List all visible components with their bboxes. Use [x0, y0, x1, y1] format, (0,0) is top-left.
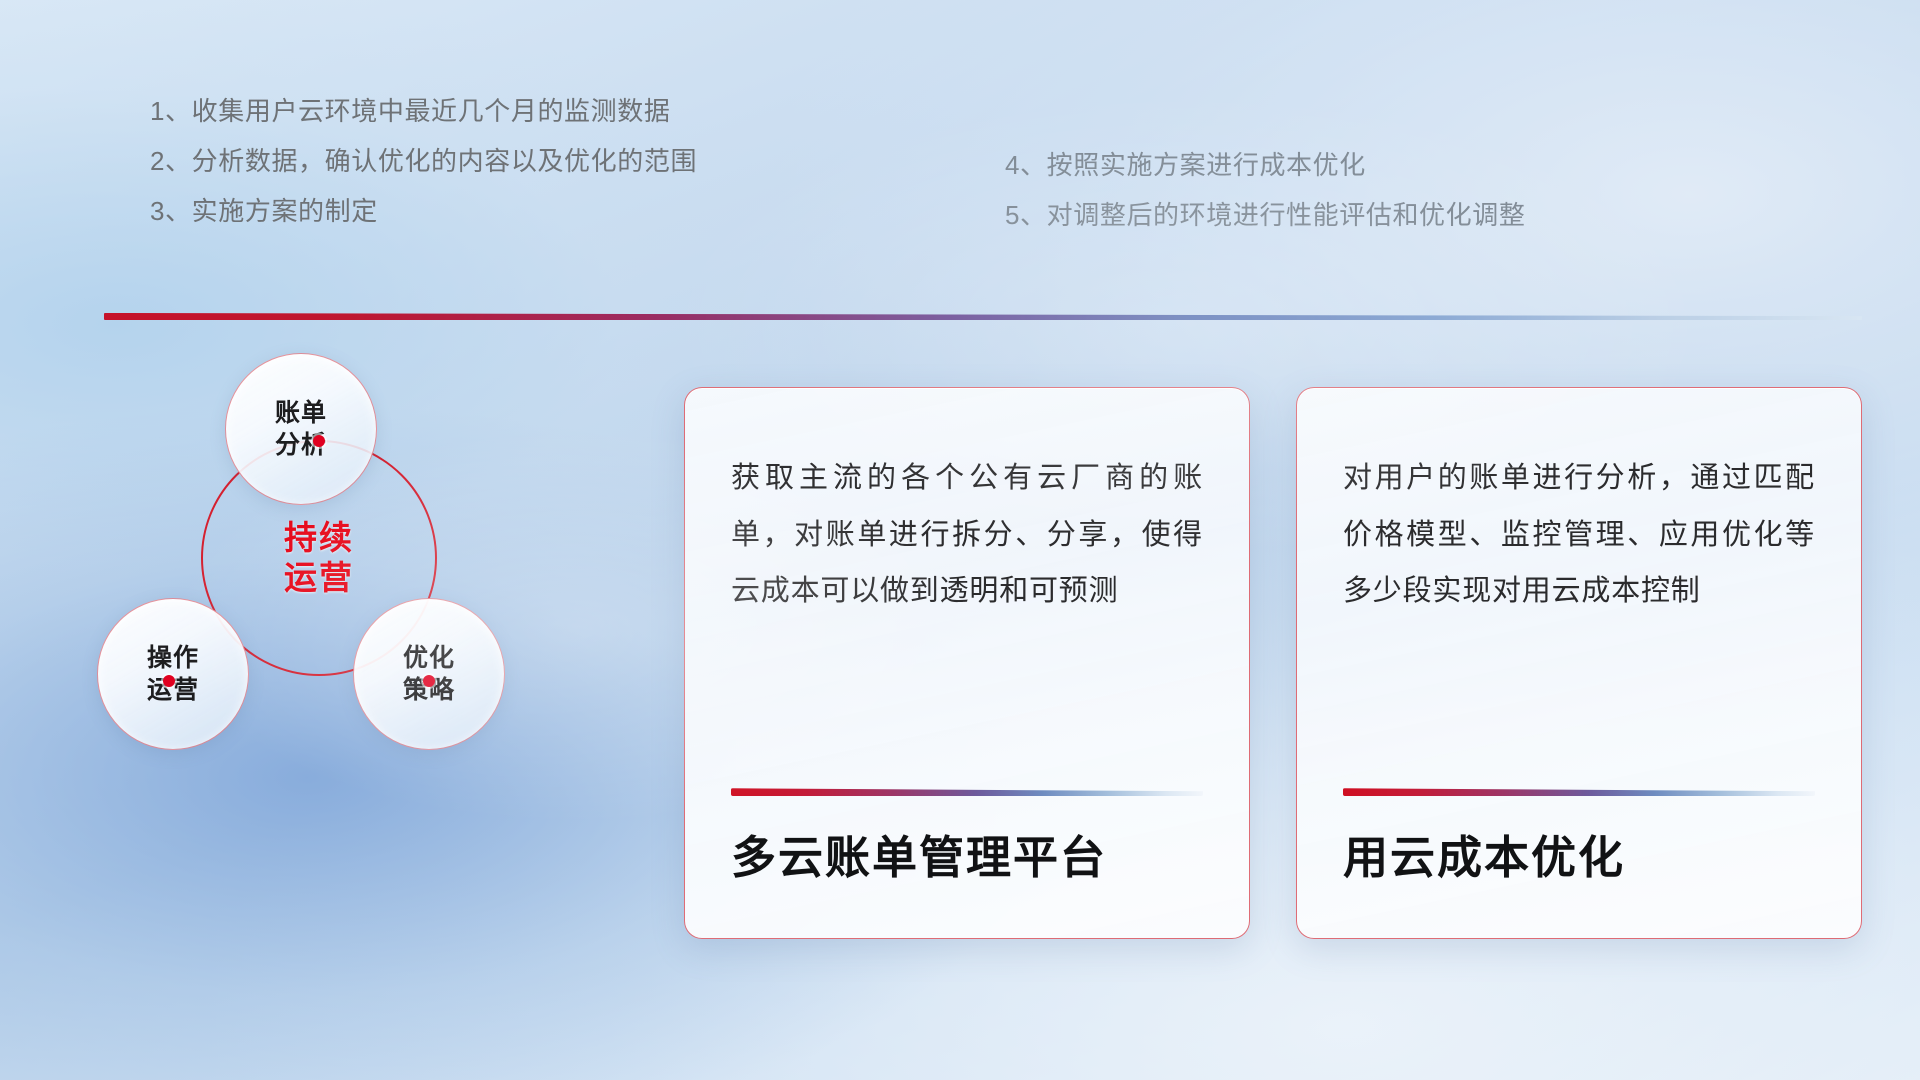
venn-bubble-optimization-strategy[interactable]: 优化 策略 [353, 598, 505, 750]
step-item-3: 3、实施方案的制定 [150, 198, 697, 224]
venn-node-dot-left [163, 675, 175, 687]
card-1-gradient-divider [731, 788, 1203, 796]
card-2-title: 用云成本优化 [1343, 832, 1815, 884]
card-2-body-text: 对用户的账单进行分析，通过匹配价格模型、监控管理、应用优化等多少段实现对用云成本… [1343, 450, 1815, 620]
venn-diagram: 持续 运营 账单 分析 操作 运营 优化 策略 [95, 355, 615, 775]
venn-bubble-right-line-1: 优化 [403, 642, 455, 674]
venn-node-dot-top [313, 435, 325, 447]
venn-center-line-1: 持续 [284, 518, 354, 558]
card-1-body-text: 获取主流的各个公有云厂商的账单，对账单进行拆分、分享，使得云成本可以做到透明和可… [731, 450, 1203, 620]
venn-bubble-top-line-1: 账单 [275, 397, 327, 429]
slide-canvas: 1、收集用户云环境中最近几个月的监测数据 2、分析数据，确认优化的内容以及优化的… [0, 0, 1920, 1080]
venn-bubble-billing-analysis[interactable]: 账单 分析 [225, 353, 377, 505]
venn-bubble-left-line-1: 操作 [147, 642, 199, 674]
card-1-title: 多云账单管理平台 [731, 832, 1203, 884]
card-2-gradient-divider [1343, 788, 1815, 796]
header-gradient-divider [104, 313, 1862, 320]
steps-right-column: 4、按照实施方案进行成本优化 5、对调整后的环境进行性能评估和优化调整 [1005, 152, 1525, 252]
venn-bubble-operations[interactable]: 操作 运营 [97, 598, 249, 750]
steps-left-column: 1、收集用户云环境中最近几个月的监测数据 2、分析数据，确认优化的内容以及优化的… [150, 98, 697, 248]
feature-card-cloud-cost-optimization[interactable]: 对用户的账单进行分析，通过匹配价格模型、监控管理、应用优化等多少段实现对用云成本… [1296, 387, 1862, 939]
feature-card-multicloud-billing[interactable]: 获取主流的各个公有云厂商的账单，对账单进行拆分、分享，使得云成本可以做到透明和可… [684, 387, 1250, 939]
venn-node-dot-right [423, 675, 435, 687]
step-item-5: 5、对调整后的环境进行性能评估和优化调整 [1005, 202, 1525, 228]
step-item-1: 1、收集用户云环境中最近几个月的监测数据 [150, 98, 697, 124]
step-item-4: 4、按照实施方案进行成本优化 [1005, 152, 1525, 178]
step-item-2: 2、分析数据，确认优化的内容以及优化的范围 [150, 148, 697, 174]
venn-center-line-2: 运营 [284, 558, 354, 598]
